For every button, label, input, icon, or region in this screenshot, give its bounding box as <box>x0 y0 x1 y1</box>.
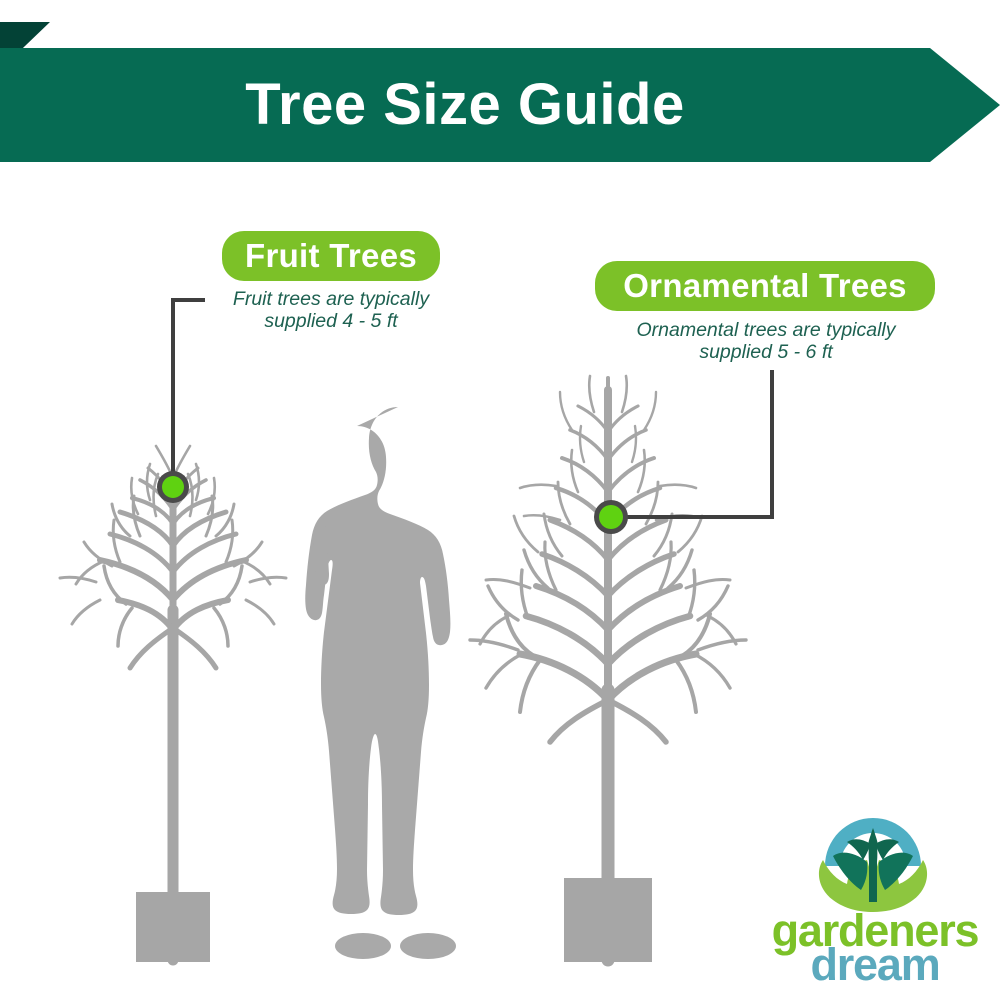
ornamental-tree-pot <box>564 878 652 962</box>
fruit-tree-height-marker[interactable] <box>157 471 189 503</box>
infographic-canvas: Tree Size Guide Fruit Trees Fruit trees … <box>0 0 1000 1000</box>
gardenersdream-emblem-icon <box>813 810 933 918</box>
fruit-tree-silhouette <box>60 446 286 960</box>
fruit-tree-leader-line <box>173 300 205 487</box>
person-silhouette <box>305 407 456 959</box>
fruit-tree-pot <box>136 892 210 962</box>
brand-logo[interactable]: gardeners dream <box>755 810 995 990</box>
ornamental-tree-height-marker[interactable] <box>594 500 628 534</box>
ornamental-tree-silhouette <box>470 376 746 960</box>
brand-wordmark: gardeners dream <box>755 913 995 983</box>
